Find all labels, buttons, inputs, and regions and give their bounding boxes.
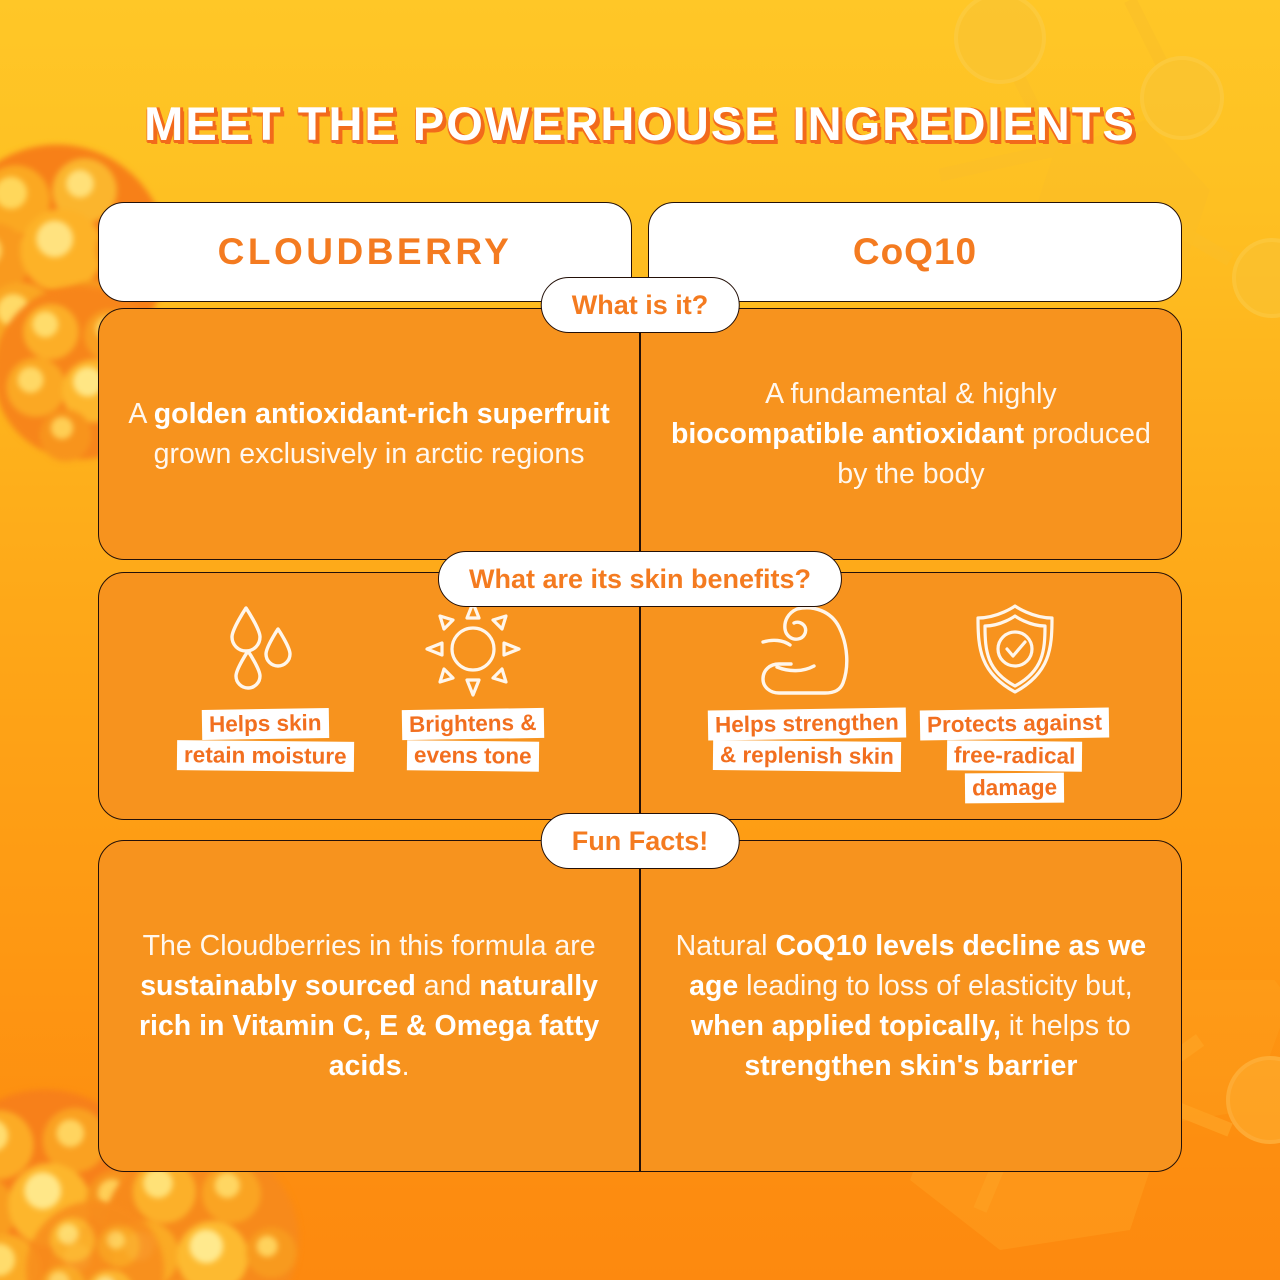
- panel-skin-benefits: Helps skinretain moisture: [98, 572, 1182, 820]
- benefit-item: Protects againstfree-radicaldamage: [920, 603, 1110, 803]
- benefit-label: Brightens &evens tone: [402, 709, 544, 771]
- panel-what-is-it: A golden antioxidant-rich superfruit gro…: [98, 308, 1182, 560]
- benefit-label: Helps skinretain moisture: [177, 709, 354, 771]
- benefit-item: Helps skinretain moisture: [170, 603, 360, 771]
- panel-fun-facts-cloudberry: The Cloudberries in this formula are sus…: [99, 841, 639, 1171]
- panel-what-is-it-cloudberry: A golden antioxidant-rich superfruit gro…: [99, 309, 639, 559]
- ingredient-name-label: CoQ10: [853, 231, 977, 273]
- benefit-item: Brightens &evens tone: [378, 603, 568, 771]
- cloudberry-cluster-icon: [20, 1195, 170, 1280]
- section-pill-what-is-it: What is it?: [541, 277, 740, 333]
- infographic-canvas: MEET THE POWERHOUSE INGREDIENTS CLOUDBER…: [0, 0, 1280, 1280]
- what-is-it-text-coq10: A fundamental & highly biocompatible ant…: [667, 374, 1155, 494]
- panel-fun-facts: The Cloudberries in this formula are sus…: [98, 840, 1182, 1172]
- panel-fun-facts-coq10: Natural CoQ10 levels decline as we age l…: [641, 841, 1181, 1171]
- sun-icon: [423, 603, 523, 695]
- fun-fact-text-cloudberry: The Cloudberries in this formula are sus…: [125, 926, 613, 1086]
- flexed-bicep-icon: [755, 603, 859, 695]
- benefits-coq10: Helps strengthen& replenish skin Protect…: [641, 573, 1181, 819]
- fun-fact-text-coq10: Natural CoQ10 levels decline as we age l…: [667, 926, 1155, 1086]
- panel-what-is-it-coq10: A fundamental & highly biocompatible ant…: [641, 309, 1181, 559]
- benefit-label: Helps strengthen& replenish skin: [708, 709, 906, 771]
- benefits-cloudberry: Helps skinretain moisture: [99, 573, 639, 819]
- water-drops-icon: [222, 603, 308, 695]
- ingredient-name-label: CLOUDBERRY: [218, 231, 513, 273]
- benefit-label: Protects againstfree-radicaldamage: [920, 709, 1109, 803]
- benefit-item: Helps strengthen& replenish skin: [712, 603, 902, 771]
- what-is-it-text-cloudberry: A golden antioxidant-rich superfruit gro…: [125, 394, 613, 474]
- section-pill-fun-facts: Fun Facts!: [541, 813, 740, 869]
- shield-check-icon: [974, 603, 1056, 695]
- section-pill-skin-benefits: What are its skin benefits?: [438, 551, 842, 607]
- page-title: MEET THE POWERHOUSE INGREDIENTS: [0, 96, 1280, 151]
